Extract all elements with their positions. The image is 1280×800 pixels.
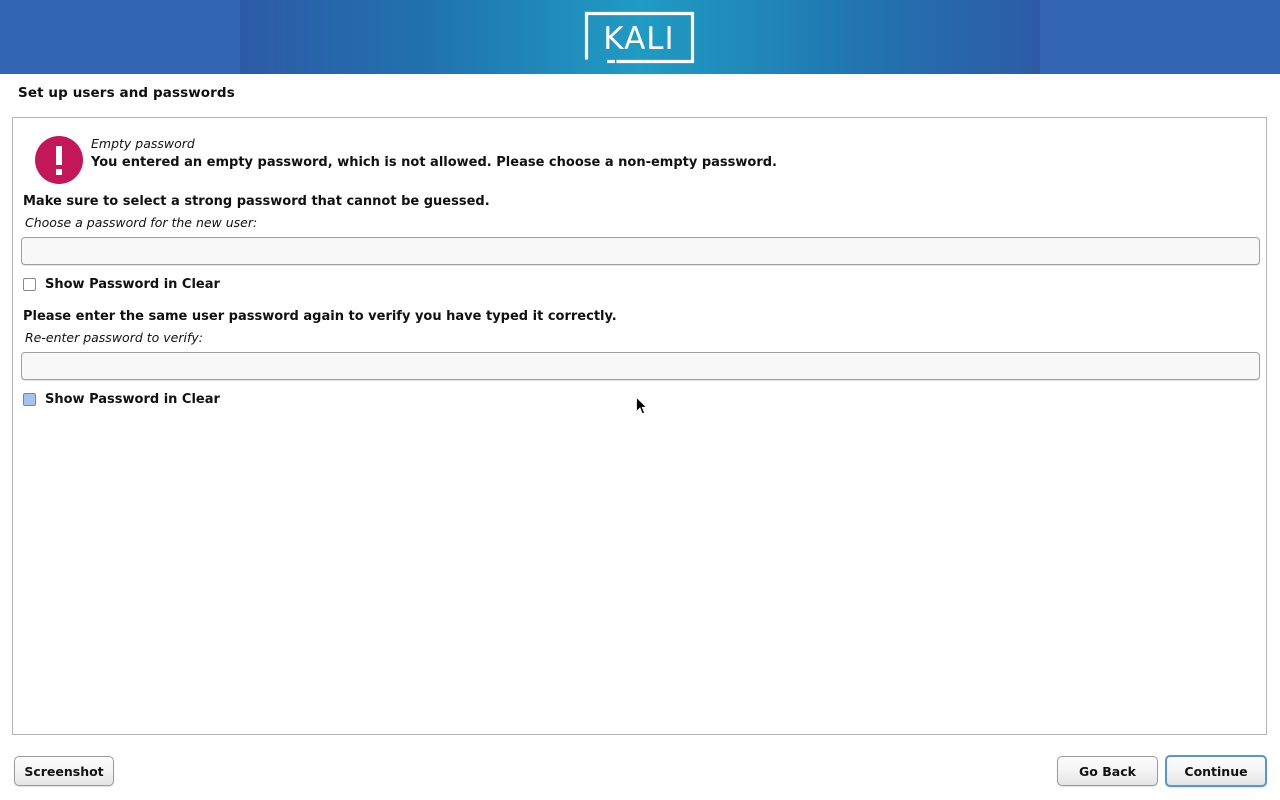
show-password-label-2: Show Password in Clear [45, 392, 220, 407]
main-content-panel: Empty password You entered an empty pass… [12, 117, 1267, 735]
screenshot-button[interactable]: Screenshot [14, 756, 114, 786]
show-password-checkbox-row-2[interactable]: Show Password in Clear [23, 392, 220, 407]
kali-header-banner: KALI [0, 0, 1280, 74]
svg-text:KALI: KALI [603, 21, 674, 57]
kali-dragon-logo: KALI [583, 10, 696, 65]
continue-button[interactable]: Continue [1165, 755, 1267, 787]
password-field-label: Choose a password for the new user: [25, 215, 257, 230]
verify-password-input[interactable] [21, 352, 1260, 380]
show-password-checkbox-2[interactable] [23, 393, 36, 406]
installer-window: KALI Set up users and passwords Empty pa… [0, 0, 1280, 800]
go-back-button[interactable]: Go Back [1057, 756, 1158, 786]
error-message: You entered an empty password, which is … [91, 155, 777, 170]
error-exclamation-icon [35, 136, 83, 184]
show-password-checkbox-1[interactable] [23, 278, 36, 291]
show-password-label-1: Show Password in Clear [45, 277, 220, 292]
password-input[interactable] [21, 237, 1260, 265]
verify-field-label: Re-enter password to verify: [25, 330, 203, 345]
password-strength-hint: Make sure to select a strong password th… [23, 194, 490, 209]
verify-password-hint: Please enter the same user password agai… [23, 309, 617, 324]
show-password-checkbox-row-1[interactable]: Show Password in Clear [23, 277, 220, 292]
error-title: Empty password [91, 136, 195, 151]
page-title: Set up users and passwords [18, 85, 235, 101]
